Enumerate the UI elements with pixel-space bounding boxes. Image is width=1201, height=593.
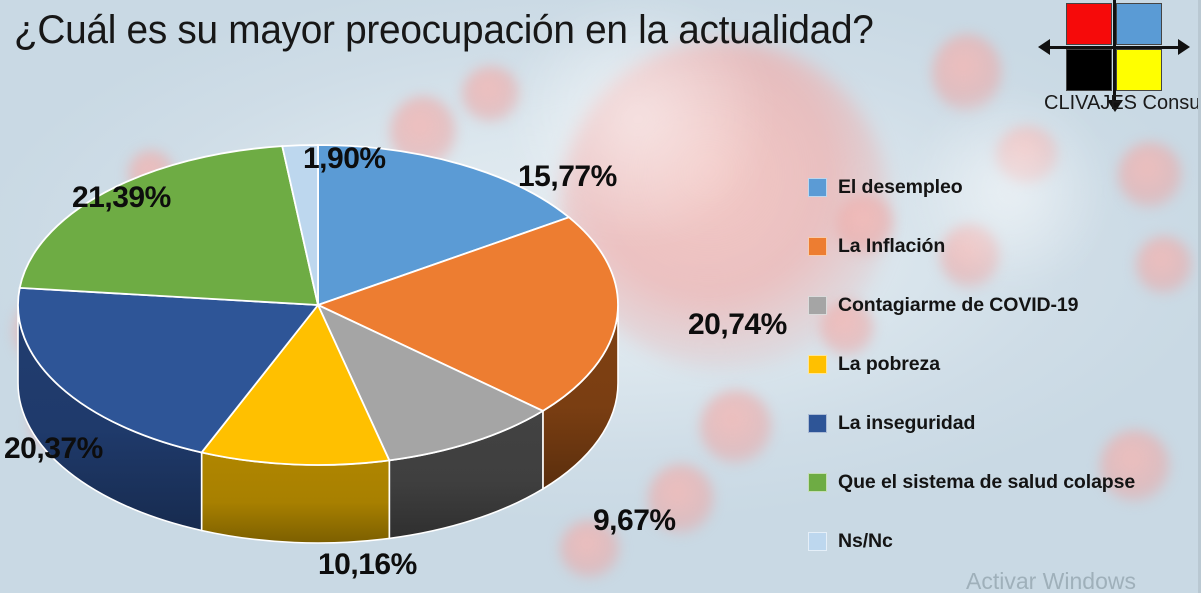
legend-item[interactable]: La inseguridad <box>808 408 1201 438</box>
brand-name: CLIVAJES Consultores <box>1044 92 1201 115</box>
pie-data-label: 15,77% <box>518 160 617 194</box>
logo-quadrant-red <box>1066 3 1112 45</box>
legend-item-label: Que el sistema de salud colapse <box>838 471 1135 494</box>
pie-slice[interactable] <box>20 146 318 305</box>
pie-side-wall <box>202 452 390 543</box>
logo-arrow-right-icon <box>1178 39 1190 55</box>
legend-swatch-icon <box>808 473 827 492</box>
legend-item[interactable]: El desempleo <box>808 172 1201 202</box>
pie-data-label: 9,67% <box>593 504 676 538</box>
legend-item-label: La Inflación <box>838 235 945 258</box>
legend-swatch-icon <box>808 178 827 197</box>
legend-item[interactable]: Contagiarme de COVID-19 <box>808 290 1201 320</box>
logo-quadrant-blue <box>1116 3 1162 45</box>
slide-canvas: ¿Cuál es su mayor preocupación en la act… <box>0 0 1201 593</box>
legend-swatch-icon <box>808 355 827 374</box>
chart-legend: El desempleoLa InflaciónContagiarme de C… <box>808 172 1201 585</box>
legend-item-label: Ns/Nc <box>838 530 893 553</box>
legend-item-label: Contagiarme de COVID-19 <box>838 294 1078 317</box>
pie-chart: 15,77%20,74%9,67%10,16%20,37%21,39%1,90% <box>0 60 800 593</box>
legend-swatch-icon <box>808 414 827 433</box>
legend-item-label: El desempleo <box>838 176 963 199</box>
legend-swatch-icon <box>808 296 827 315</box>
activate-windows-watermark: Activar Windows <box>966 568 1136 593</box>
logo-quadrant-yellow <box>1116 49 1162 91</box>
legend-item[interactable]: La Inflación <box>808 231 1201 261</box>
brand-logo: CLIVAJES Consultores <box>1044 3 1196 115</box>
legend-item-label: La pobreza <box>838 353 940 376</box>
clivajes-logo-icon <box>1066 3 1164 91</box>
pie-chart-svg <box>0 60 800 593</box>
pie-data-label: 20,37% <box>4 432 103 466</box>
page-title: ¿Cuál es su mayor preocupación en la act… <box>14 8 874 53</box>
pie-data-label: 20,74% <box>688 308 787 342</box>
legend-swatch-icon <box>808 237 827 256</box>
legend-item-label: La inseguridad <box>838 412 975 435</box>
legend-swatch-icon <box>808 532 827 551</box>
logo-quadrant-black <box>1066 49 1112 91</box>
legend-item[interactable]: La pobreza <box>808 349 1201 379</box>
legend-item[interactable]: Ns/Nc <box>808 526 1201 556</box>
pie-data-label: 1,90% <box>303 142 386 176</box>
legend-item[interactable]: Que el sistema de salud colapse <box>808 467 1201 497</box>
pie-data-label: 10,16% <box>318 548 417 582</box>
logo-arrow-left-icon <box>1038 39 1050 55</box>
pie-data-label: 21,39% <box>72 181 171 215</box>
